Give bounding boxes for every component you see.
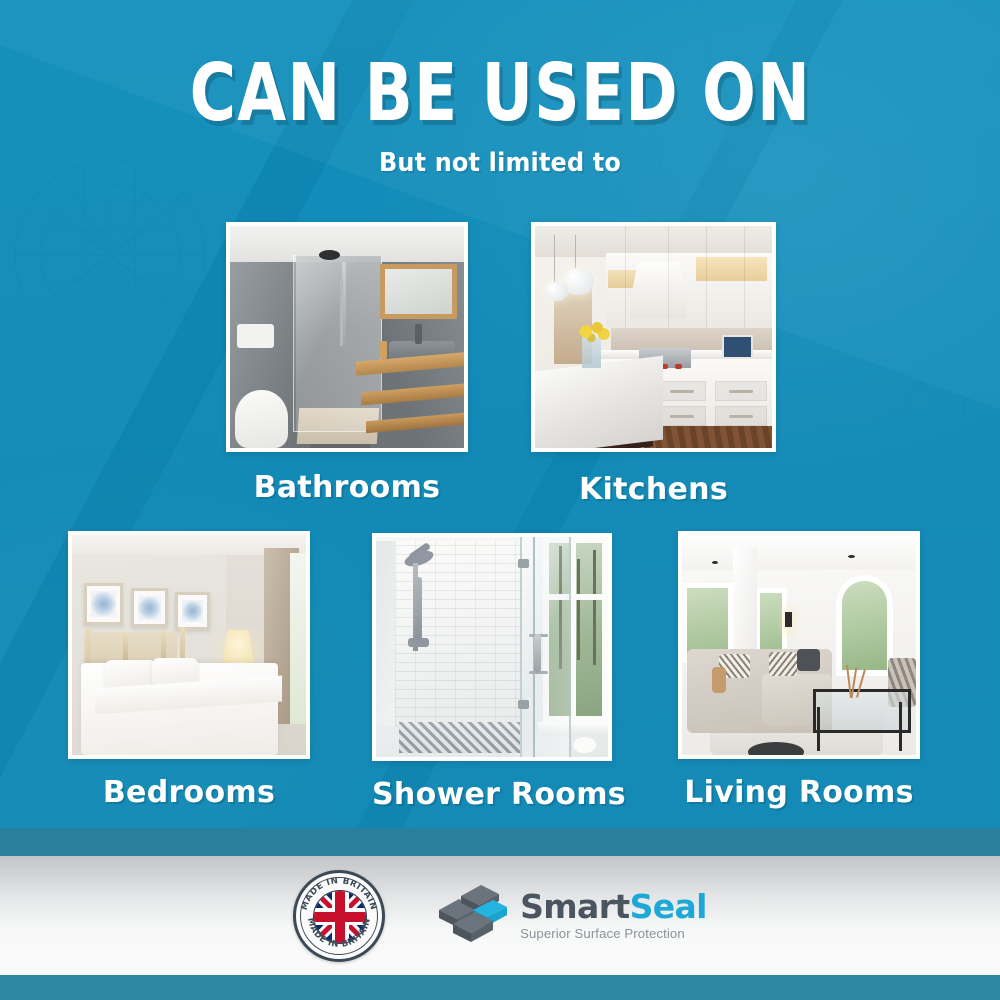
isometric-blocks-logo-icon <box>437 884 507 948</box>
made-in-britain-badge: MADE IN BRITAIN MADE IN BRITAIN <box>293 870 385 962</box>
gallery-caption-kitchens: Kitchens <box>531 472 776 507</box>
photo-bathroom <box>230 226 464 448</box>
gallery-card-bathrooms[interactable] <box>226 222 468 452</box>
brand-tagline: Superior Surface Protection <box>520 927 707 940</box>
divider-band-top <box>0 828 1000 856</box>
page-title: CAN BE USED ON <box>189 56 810 132</box>
gallery-caption-bedrooms: Bedrooms <box>68 775 310 810</box>
photo-kitchen <box>535 226 772 448</box>
header-block: CAN BE USED ON But not limited to <box>0 56 1000 178</box>
badge-text-bottom: MADE IN BRITAIN <box>305 916 373 949</box>
gallery-card-living-rooms[interactable] <box>678 531 920 759</box>
brand-name-part2: Seal <box>630 887 707 926</box>
page-subtitle: But not limited to <box>40 148 960 178</box>
brand-wordmark: SmartSeal <box>520 890 707 923</box>
photo-living-room <box>682 535 916 755</box>
smartseal-logo[interactable]: SmartSeal Superior Surface Protection <box>437 884 707 948</box>
badge-curved-text: MADE IN BRITAIN MADE IN BRITAIN <box>296 873 382 959</box>
badge-text-top: MADE IN BRITAIN <box>300 876 378 911</box>
gallery-card-bedrooms[interactable] <box>68 531 310 759</box>
gallery-caption-living-rooms: Living Rooms <box>678 775 920 810</box>
divider-band-bottom <box>0 975 1000 1000</box>
gallery-card-shower-rooms[interactable] <box>372 533 612 761</box>
gallery-card-kitchens[interactable] <box>531 222 776 452</box>
footer-bar: MADE IN BRITAIN MADE IN BRITAIN <box>0 856 1000 975</box>
gallery-caption-shower-rooms: Shower Rooms <box>372 777 612 812</box>
photo-shower-room <box>376 537 608 757</box>
photo-bedroom <box>72 535 306 755</box>
brand-name-part1: Smart <box>520 887 629 926</box>
poster-canvas: CAN BE USED ON But not limited to Bathro… <box>0 0 1000 1000</box>
gallery-caption-bathrooms: Bathrooms <box>226 470 468 505</box>
